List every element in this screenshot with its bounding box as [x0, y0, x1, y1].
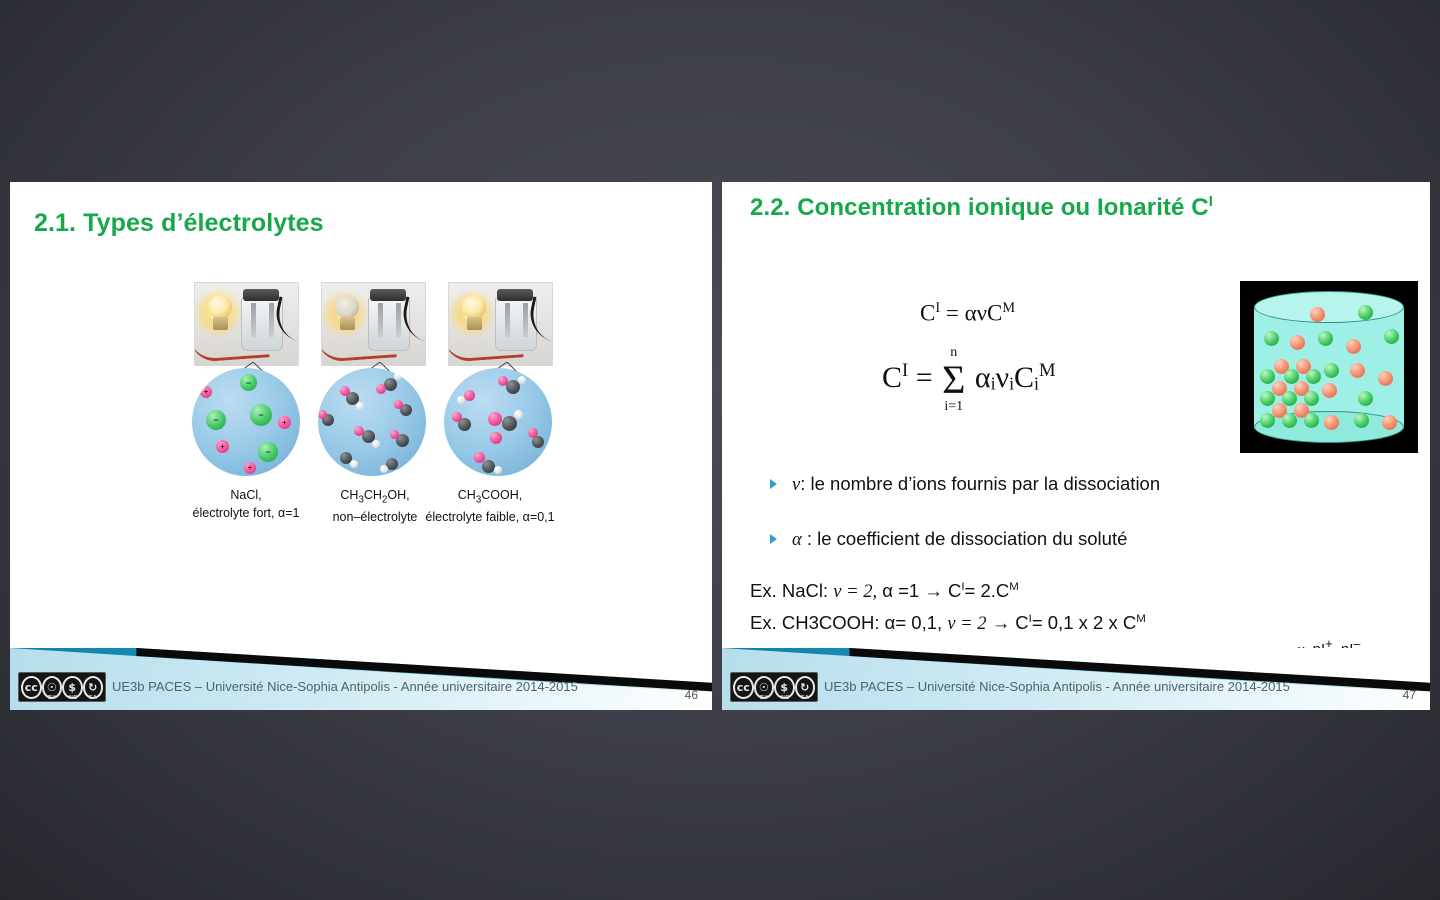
red-wire — [448, 332, 524, 362]
cation-bead — [1378, 371, 1393, 386]
electrode-cap — [370, 289, 406, 301]
nacl-solution-magnifier: – + – – + + – + — [192, 368, 300, 476]
electrode-right — [269, 303, 274, 337]
bullet-text: : le nombre d’ions fournis par la dissoc… — [800, 473, 1160, 494]
sum-upper-limit: n — [942, 345, 965, 361]
page-number-left: 46 — [685, 688, 698, 702]
anion-bead — [1324, 363, 1339, 378]
hydrogen-atom — [494, 466, 502, 474]
cylinder-top-ellipse — [1254, 291, 1404, 323]
sigma-glyph: Σ — [942, 362, 965, 398]
anion: – — [206, 410, 226, 430]
cation-bead — [1324, 415, 1339, 430]
cc-by-label: BY — [760, 695, 768, 701]
cation-bead — [1350, 363, 1365, 378]
footer-text-left: UE3b PACES – Université Nice-Sophia Anti… — [112, 679, 578, 694]
hydrogen-atom — [372, 440, 380, 448]
ion-solution-illustration — [1240, 281, 1418, 453]
electrode-left — [378, 303, 383, 337]
hydrogen-atom — [356, 402, 364, 410]
sum-formula-equals: = — [916, 361, 933, 394]
figure-caption-3: CH3COOH, électrolyte faible, α=0,1 — [405, 486, 575, 526]
caption-line-2: électrolyte faible, α=0,1 — [405, 508, 575, 526]
anion-bead — [1304, 413, 1319, 428]
light-bulb-icon — [335, 295, 359, 319]
red-wire — [194, 332, 270, 362]
red-wire — [321, 332, 397, 362]
definitions-list: ν: le nombre d’ions fournis par la disso… — [752, 472, 1312, 582]
ethanol-solution-magnifier — [318, 368, 426, 476]
hydrogen-atom — [518, 376, 526, 384]
example-result-tail-sup: M — [1009, 581, 1019, 593]
page-title-left: 2.1. Types d’électrolytes — [34, 209, 324, 238]
bulb-base — [340, 317, 355, 330]
hydrogen-atom — [394, 372, 402, 380]
cation: + — [216, 440, 229, 453]
electrode-left — [505, 303, 510, 337]
cc-logo-icon: cc — [733, 676, 754, 699]
bulb-base — [467, 317, 482, 330]
example-alpha: α =1 — [882, 580, 919, 601]
example-result-tail: = 2.C — [965, 580, 1010, 601]
example-arrow: → — [992, 612, 1011, 633]
figure-captions: NaCl, électrolyte fort, α=1 CH3CH2OH, no… — [185, 486, 565, 526]
bulb-base — [213, 317, 228, 330]
anion-bead — [1354, 413, 1369, 428]
anion-bead — [1264, 331, 1279, 346]
slide-footer-right: cc ☉ $ ↻ BY NC SA UE3b PACES – Universit… — [722, 648, 1430, 710]
caption-line-1: CH3COOH, — [405, 486, 575, 508]
hydrogen-atom — [514, 410, 523, 419]
electrolyte-figure: – + – – + + – + — [185, 282, 565, 526]
hydrogen-atom — [380, 465, 388, 473]
cation-bead — [1290, 335, 1305, 350]
slide-footer-left: cc ☉ $ ↻ BY NC SA UE3b PACES – Universit… — [10, 648, 712, 710]
light-bulb-icon — [208, 295, 232, 319]
bullet-symbol: α — [792, 530, 802, 550]
hydrogen-atom — [457, 396, 465, 404]
cc-nc-label: NC — [781, 695, 789, 701]
anion: – — [258, 442, 278, 462]
example-result-base: C — [948, 580, 961, 601]
cc-sa-label: SA — [89, 695, 97, 701]
conductivity-apparatus-photo-2 — [321, 282, 426, 366]
carbon-atom — [532, 436, 544, 448]
apparatus-photo-row — [185, 282, 565, 364]
oxygen-atom — [394, 400, 403, 409]
oxygen-atom — [498, 376, 508, 386]
oxygen-atom — [488, 412, 502, 426]
footer-text-right: UE3b PACES – Université Nice-Sophia Anti… — [824, 679, 1290, 694]
sum-terms-sup: M — [1039, 360, 1056, 381]
sum-formula-lhs: C — [882, 361, 902, 394]
oxygen-atom — [318, 410, 327, 419]
oxygen-atom — [464, 390, 475, 401]
page-title-right-text: 2.2. Concentration ionique ou Ionarité C — [750, 194, 1209, 221]
slide-46[interactable]: 2.1. Types d’électrolytes — [10, 182, 712, 710]
cc-by-label: BY — [48, 695, 56, 701]
cation-bead — [1322, 383, 1337, 398]
carbon-atom — [502, 416, 517, 431]
slide-47[interactable]: 2.2. Concentration ionique ou Ionarité C… — [722, 182, 1430, 710]
example-arrow: → — [924, 580, 943, 601]
cation-bead — [1382, 415, 1397, 430]
summation-symbol: n Σ i=1 — [942, 362, 965, 398]
cylinder-container — [1254, 291, 1404, 443]
page-title-superscript: I — [1209, 194, 1213, 210]
anion-bead — [1306, 369, 1321, 384]
example-label: Ex. NaCl: — [750, 580, 828, 601]
cation-bead — [1346, 339, 1361, 354]
electrode-right — [523, 303, 528, 337]
creative-commons-icon[interactable]: cc ☉ $ ↻ BY NC SA — [18, 672, 106, 702]
oxygen-atom — [376, 384, 386, 394]
anion-bead — [1260, 369, 1275, 384]
example-nu: ν = 2, — [833, 582, 877, 602]
example-alpha: α= 0,1, — [885, 612, 943, 633]
example-ch3cooh: Ex. CH3COOH: α= 0,1, ν = 2 → CI= 0,1 x 2… — [750, 612, 1146, 635]
ionarity-formula-simple: CI = ανCM — [920, 300, 1015, 327]
light-bulb-icon — [462, 295, 486, 319]
sum-terms: αᵢνᵢCᵢ — [975, 361, 1039, 394]
creative-commons-icon[interactable]: cc ☉ $ ↻ BY NC SA — [730, 672, 818, 702]
sum-formula-lhs-sup: I — [902, 360, 908, 381]
page-title-right: 2.2. Concentration ionique ou Ionarité C… — [750, 194, 1213, 222]
magnified-solution-row: – + – – + + – + — [185, 368, 565, 480]
electrode-right — [396, 303, 401, 337]
anion-bead — [1318, 331, 1333, 346]
anion: – — [240, 374, 257, 391]
conductivity-apparatus-photo-1 — [194, 282, 299, 366]
anion: – — [250, 404, 272, 426]
example-nacl: Ex. NaCl: ν = 2, α =1 → CI= 2.CM — [750, 580, 1019, 603]
bullet-alpha: α : le coefficient de dissociation du so… — [752, 527, 1312, 552]
slide-viewer: 2.1. Types d’électrolytes — [0, 0, 1440, 900]
anion-bead — [1260, 413, 1275, 428]
bullet-nu: ν: le nombre d’ions fournis par la disso… — [752, 472, 1312, 497]
example-label: Ex. CH3COOH: — [750, 612, 880, 633]
oxygen-atom — [390, 430, 399, 439]
carbon-atom — [482, 460, 495, 473]
oxygen-atom — [354, 426, 364, 436]
acetic-acid-solution-magnifier — [444, 368, 552, 476]
ionarity-formula-sum: CI = n Σ i=1 αᵢνᵢCᵢM — [882, 360, 1055, 398]
formula-rhs-sup: M — [1002, 300, 1015, 316]
cc-logo-icon: cc — [21, 676, 42, 699]
anion-bead — [1358, 391, 1373, 406]
sum-lower-limit: i=1 — [942, 399, 965, 415]
anion-bead — [1384, 329, 1399, 344]
example-result-tail: = 0,1 x 2 x C — [1032, 612, 1136, 633]
anion-bead — [1260, 391, 1275, 406]
conductivity-apparatus-photo-3 — [448, 282, 553, 366]
anion-bead — [1282, 413, 1297, 428]
bullet-text: : le coefficient de dissociation du solu… — [802, 528, 1128, 549]
example-result-base: C — [1015, 612, 1028, 633]
cation: + — [244, 462, 256, 474]
cc-sa-label: SA — [801, 695, 809, 701]
oxygen-atom — [452, 412, 462, 422]
bullet-triangle-icon — [770, 534, 777, 544]
anion-bead — [1358, 305, 1373, 320]
cation: + — [200, 386, 212, 398]
electrode-cap — [497, 289, 533, 301]
cation-bead — [1310, 307, 1325, 322]
hydrogen-atom — [350, 460, 358, 468]
page-number-right: 47 — [1403, 688, 1416, 702]
formula-lhs-sup: I — [935, 300, 940, 316]
oxygen-atom — [340, 386, 350, 396]
formula-body: = ανC — [946, 301, 1003, 326]
electrode-left — [251, 303, 256, 337]
formula-lhs: C — [920, 301, 935, 326]
example-result-tail-sup: M — [1136, 613, 1146, 625]
bullet-triangle-icon — [770, 479, 777, 489]
oxygen-atom — [490, 432, 502, 444]
bullet-symbol: ν — [792, 475, 800, 495]
cation: + — [278, 416, 291, 429]
example-nu: ν = 2 — [947, 614, 986, 634]
electrode-cap — [243, 289, 279, 301]
cc-nc-label: NC — [69, 695, 77, 701]
